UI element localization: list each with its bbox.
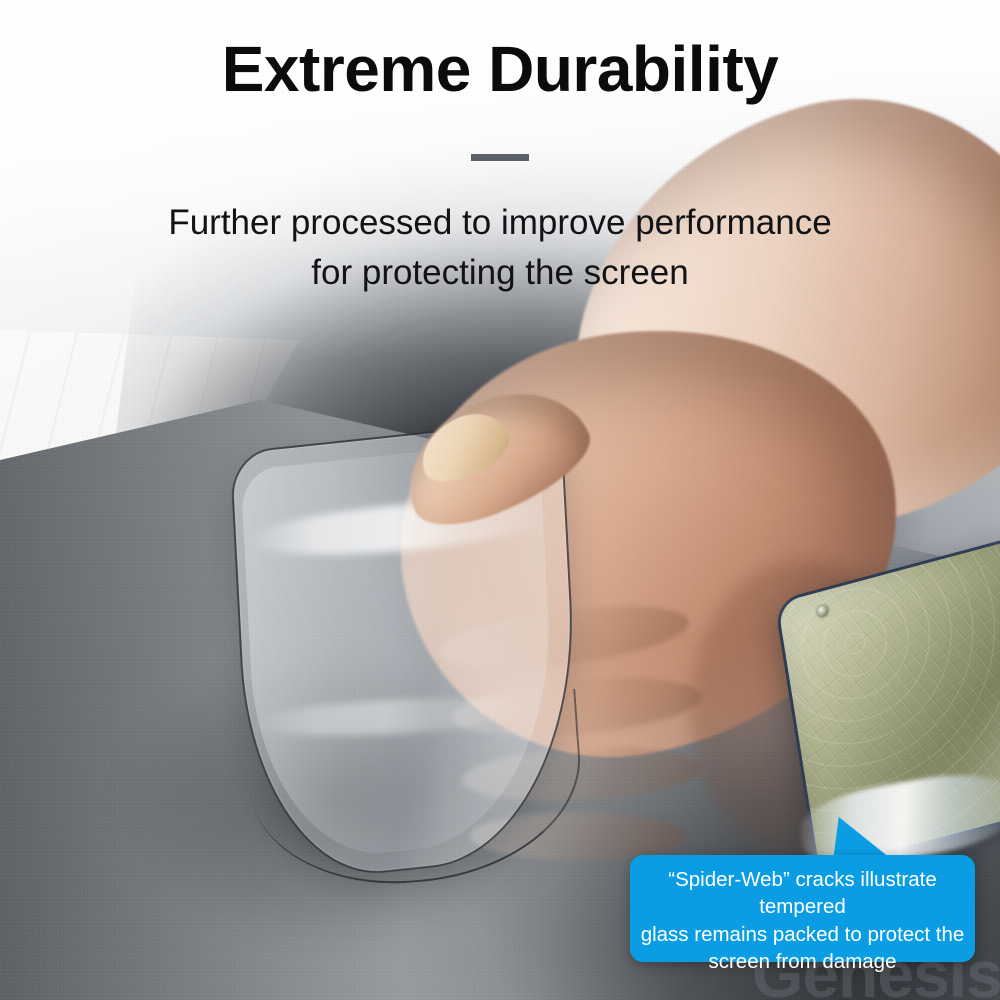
- title-divider: [471, 154, 529, 161]
- product-marketing-poster: Genesis Extreme Durability Further proce…: [0, 0, 1000, 1000]
- callout-text: “Spider-Web” cracks illustrate tempered …: [630, 866, 975, 975]
- callout-line-3: screen from damage: [630, 948, 975, 975]
- page-title: Extreme Durability: [0, 36, 1000, 103]
- subtitle: Further processed to improve performance…: [0, 198, 1000, 297]
- callout-line-2: glass remains packed to protect the: [630, 921, 975, 948]
- bent-glass-bottom-edge: [244, 689, 588, 894]
- subtitle-line-2: for protecting the screen: [0, 248, 1000, 298]
- callout-line-1: “Spider-Web” cracks illustrate tempered: [630, 866, 975, 921]
- callout-pointer-icon: [823, 817, 891, 859]
- subtitle-line-1: Further processed to improve performance: [0, 198, 1000, 248]
